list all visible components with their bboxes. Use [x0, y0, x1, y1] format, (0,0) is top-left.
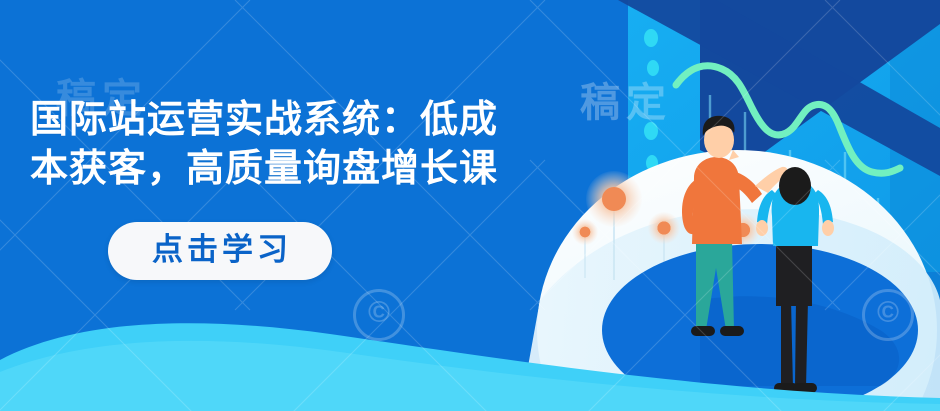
bottom-wave-2: [0, 341, 940, 411]
right-scene: [618, 0, 940, 300]
person-b-shirt: [772, 182, 819, 246]
person-blue-shirt: [756, 167, 834, 393]
headline-block: 国际站运营实战系统：低成 本获客，高质量询盘增长课: [30, 96, 630, 195]
navy-diagonal-band: [700, 0, 940, 170]
click-to-learn-button[interactable]: 点击学习: [108, 222, 332, 280]
person-b-arm-right: [814, 190, 833, 225]
person-b-shoe-left: [774, 383, 798, 393]
banner-headline: 国际站运营实战系统：低成 本获客，高质量询盘增长课: [30, 96, 630, 195]
watermark-grid-lines: [0, 0, 940, 411]
display-panel: [628, 0, 940, 272]
person-a-arm-right: [733, 172, 762, 203]
cta-container: 点击学习: [108, 222, 332, 280]
person-b-leg-left: [781, 300, 793, 388]
promo-banner: 稿定 稿定 © © 国际站运营实战系统：低成 本获客，高质量询盘增长课 点击学习: [0, 0, 940, 411]
person-b-head: [779, 167, 811, 205]
person-b-arm-left: [757, 190, 776, 225]
person-a-arm-left: [682, 180, 700, 234]
person-a-hair: [703, 116, 735, 136]
person-b-leg-right: [795, 300, 808, 388]
panel-side-column: [890, 0, 940, 300]
person-b-shoe-right: [793, 383, 817, 393]
chart-line: [676, 66, 900, 173]
bottom-wave: [0, 323, 940, 411]
person-a-shirt: [692, 157, 742, 244]
person-a-head: [704, 122, 734, 158]
background-fill: [0, 0, 940, 411]
person-a-pants: [696, 240, 734, 330]
copyright-watermark-right: ©: [862, 289, 914, 341]
person-b-hand-right: [822, 220, 834, 236]
person-orange-shirt: [682, 116, 787, 336]
person-a-shoe-right: [720, 326, 744, 336]
person-a-neck: [729, 150, 739, 160]
illustration-artwork: [0, 0, 940, 411]
copyright-watermark-left: ©: [353, 289, 405, 341]
person-b-hand-left: [756, 220, 768, 236]
person-b-pants: [776, 236, 812, 306]
person-a-hand: [755, 167, 787, 193]
panel-hanging-lines: [710, 95, 878, 252]
person-a-shoe-left: [691, 326, 715, 336]
